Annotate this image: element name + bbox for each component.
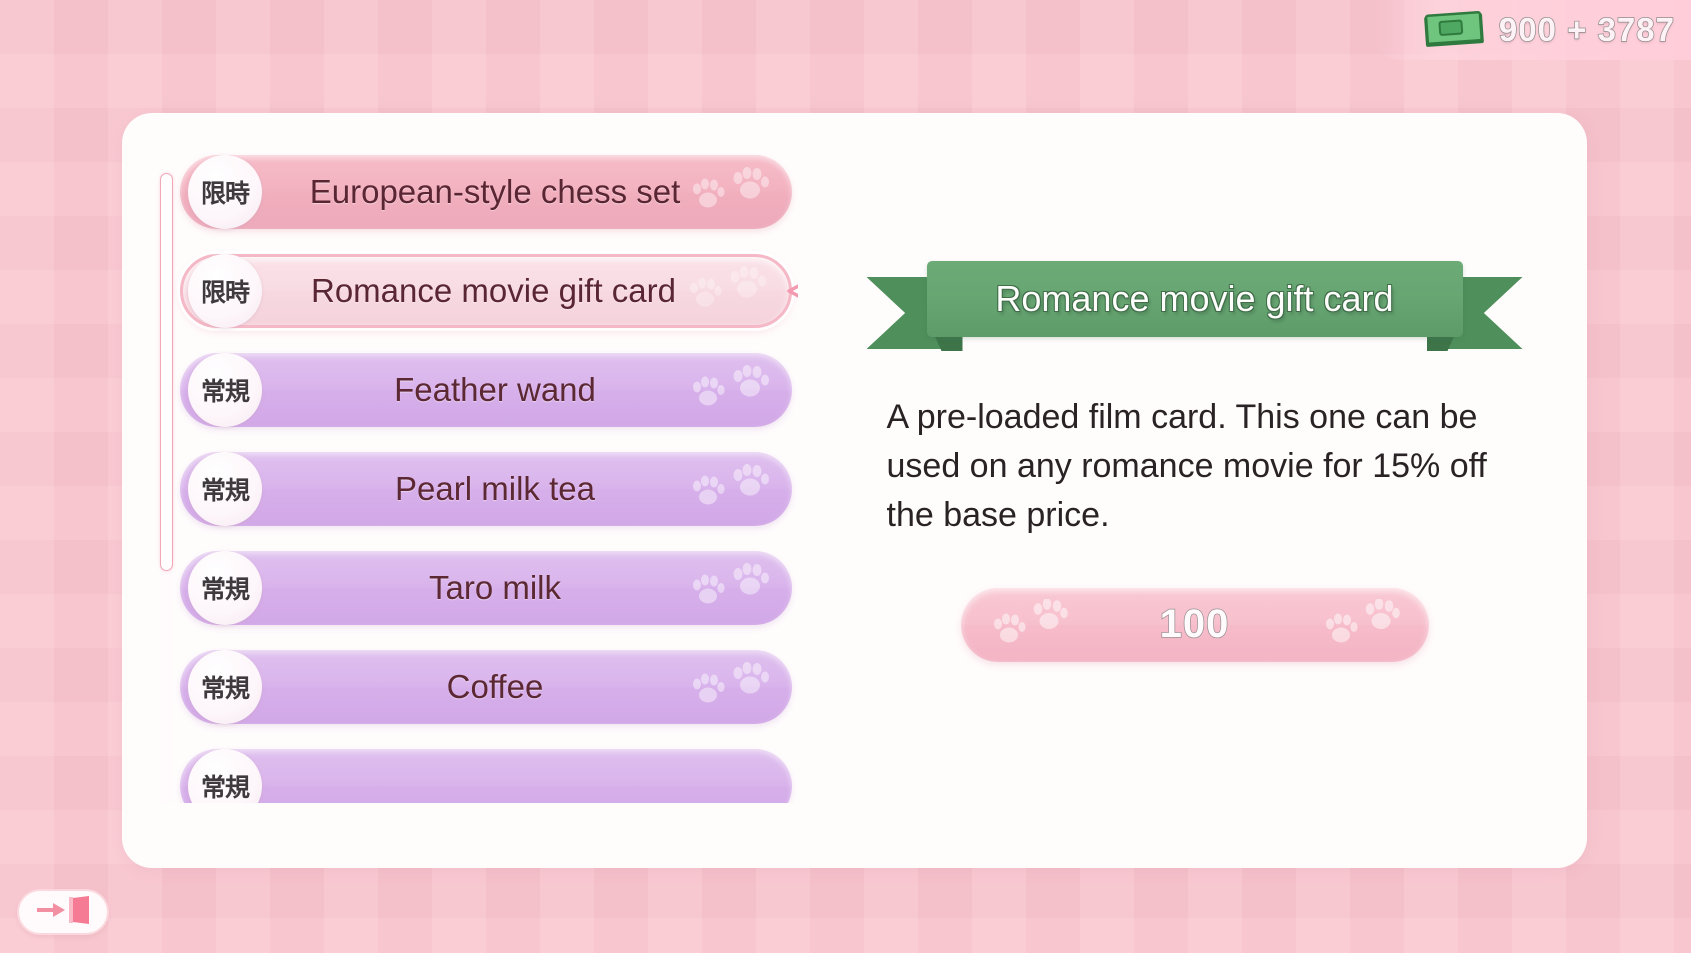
item-badge: 常規	[188, 353, 262, 427]
list-item[interactable]: 常規 Feather wand	[180, 353, 792, 427]
item-label: Romance movie gift card	[262, 272, 789, 310]
item-label: Coffee	[262, 668, 792, 706]
detail-title-ribbon: Romance movie gift card	[895, 253, 1495, 349]
exit-door-icon	[35, 895, 91, 930]
item-label: European-style chess set	[262, 173, 792, 211]
item-badge: 限時	[188, 155, 262, 229]
selection-pointer-icon	[785, 266, 798, 316]
item-badge: 常規	[188, 749, 262, 803]
list-item[interactable]: 常規 Taro milk	[180, 551, 792, 625]
list-item[interactable]: 常規 Coffee	[180, 650, 792, 724]
price-amount: 100	[1160, 602, 1230, 647]
paw-print-icon	[1315, 599, 1407, 651]
buy-price-button[interactable]: 100	[961, 588, 1429, 662]
list-scrollbar-thumb[interactable]	[160, 173, 173, 571]
paw-print-icon	[983, 599, 1075, 651]
detail-title: Romance movie gift card	[995, 278, 1393, 320]
item-badge: 常規	[188, 551, 262, 625]
item-label: Taro milk	[262, 569, 792, 607]
item-badge: 限時	[188, 254, 262, 328]
currency-amount: 900 + 3787	[1499, 11, 1675, 49]
item-label: Pearl milk tea	[262, 470, 792, 508]
list-item[interactable]: 常規	[180, 749, 792, 803]
exit-button[interactable]	[17, 889, 109, 935]
item-label: Feather wand	[262, 371, 792, 409]
item-list: 限時 European-style chess set	[180, 155, 792, 803]
shop-panel: 限時 European-style chess set	[122, 113, 1587, 868]
item-list-region: 限時 European-style chess set	[138, 135, 798, 803]
banknote-icon	[1422, 10, 1486, 50]
item-badge: 常規	[188, 650, 262, 724]
list-item[interactable]: 限時 European-style chess set	[180, 155, 792, 229]
currency-display: 900 + 3787	[1371, 0, 1691, 60]
item-badge: 常規	[188, 452, 262, 526]
list-item[interactable]: 限時 Romance movie gift card	[180, 254, 792, 328]
list-item[interactable]: 常規 Pearl milk tea	[180, 452, 792, 526]
item-detail-pane: Romance movie gift card A pre-loaded fil…	[822, 141, 1567, 809]
ribbon-band: Romance movie gift card	[927, 261, 1463, 337]
item-description: A pre-loaded film card. This one can be …	[887, 393, 1503, 540]
